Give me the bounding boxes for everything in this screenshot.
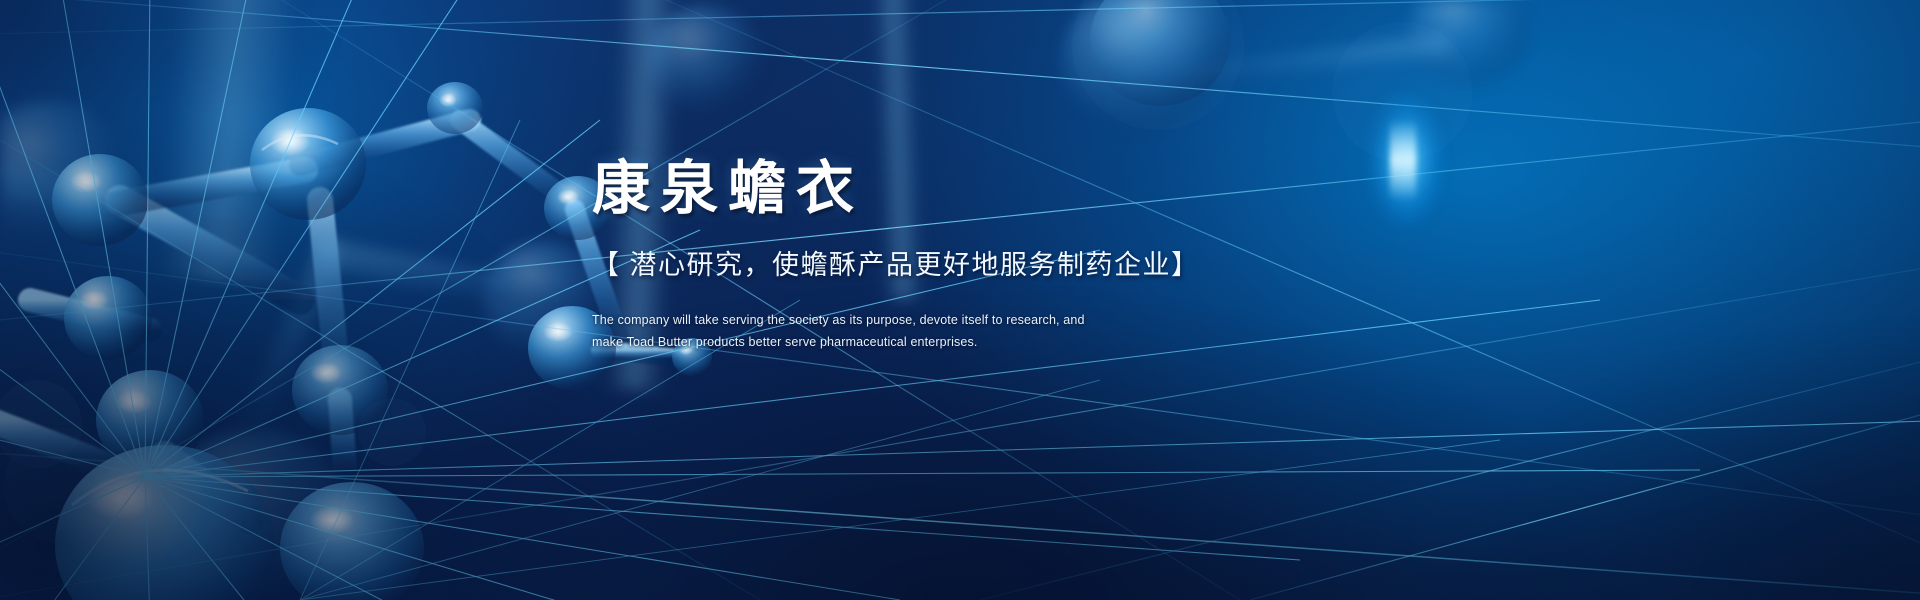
hero-banner: 康泉蟾衣 【 潜心研究，使蟾酥产品更好地服务制药企业】 The company …	[0, 0, 1920, 600]
hero-text-block: 康泉蟾衣 【 潜心研究，使蟾酥产品更好地服务制药企业】 The company …	[592, 160, 1352, 353]
page-title: 康泉蟾衣	[592, 160, 1352, 218]
english-line-2: make Toad Butter products better serve p…	[592, 331, 1352, 353]
hero-tagline: 【 潜心研究，使蟾酥产品更好地服务制药企业】	[592, 250, 1352, 281]
hero-english-description: The company will take serving the societ…	[592, 309, 1352, 353]
english-line-1: The company will take serving the societ…	[592, 309, 1352, 331]
